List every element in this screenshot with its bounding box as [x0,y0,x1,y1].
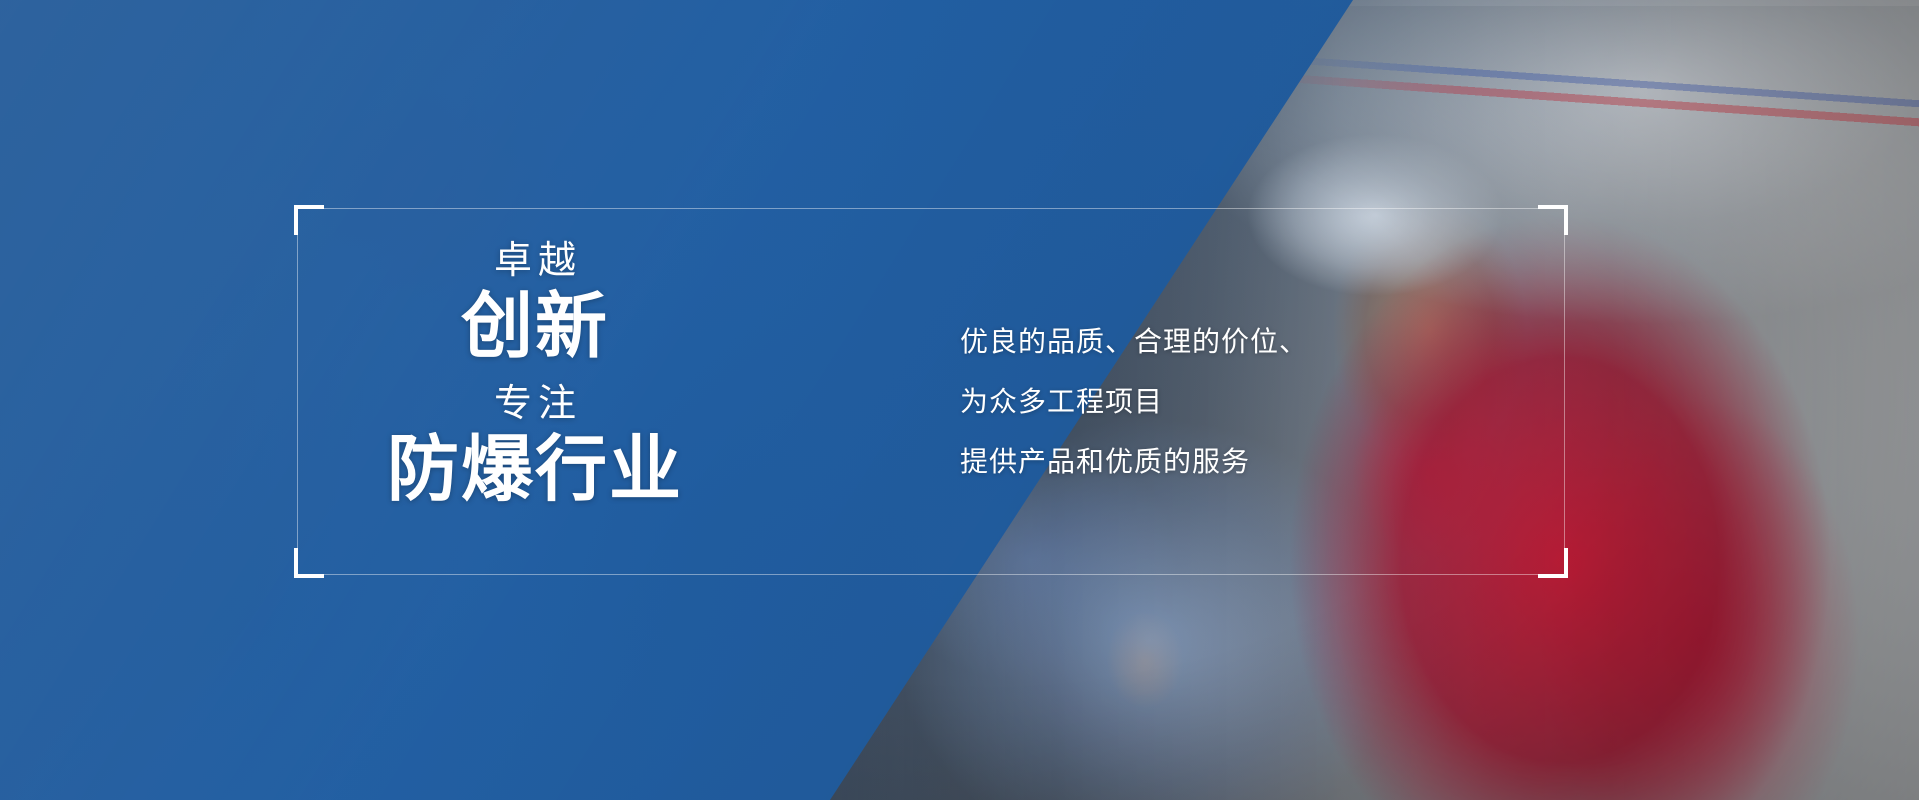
headline-primary-two: 防爆行业 [380,429,690,513]
body-copy-line: 提供产品和优质的服务 [960,432,1308,492]
body-copy-line: 优良的品质、合理的价位、 [960,312,1308,372]
headline-primary-one: 创新 [380,286,690,370]
hero-banner: 卓越 创新 专注 防爆行业 优良的品质、合理的价位、 为众多工程项目 提供产品和… [0,0,1919,800]
headline-eyebrow-two: 专注 [386,383,690,427]
headline-block: 卓越 创新 专注 防爆行业 [380,240,690,512]
body-copy-block: 优良的品质、合理的价位、 为众多工程项目 提供产品和优质的服务 [960,312,1308,492]
body-copy-line: 为众多工程项目 [960,372,1308,432]
headline-eyebrow-one: 卓越 [386,240,690,284]
